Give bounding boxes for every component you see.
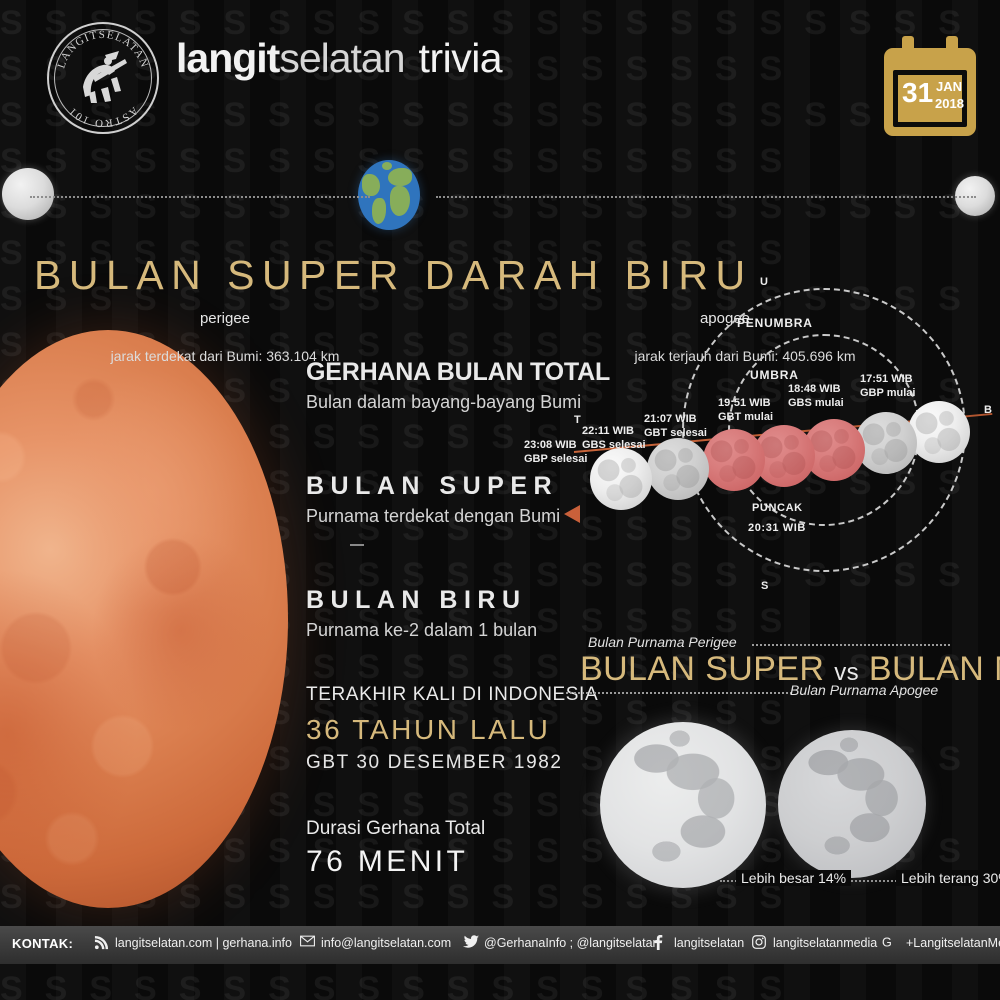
peak-label: PUNCAK (752, 502, 803, 514)
peak-time: 20:31 WIB (748, 522, 806, 534)
minimoon-maria (778, 730, 926, 878)
fact-heading-bulan-super: BULAN SUPER (306, 472, 558, 501)
super-moon-caption: Bulan Purnama Perigee (588, 634, 737, 650)
facebook-icon (653, 935, 668, 950)
eclipse-moon-1751 (908, 401, 970, 463)
eclipse-moon-2211 (647, 438, 709, 500)
duration-heading: Durasi Gerhana Total (306, 818, 485, 840)
moon-path-arrow-icon (564, 505, 580, 523)
eclipse-phase-label-2308: 23:08 WIB GBP selesai (524, 438, 587, 466)
eclipse-moon-2107 (703, 429, 765, 491)
super-vs-mini-section: Bulan Purnama Perigee BULAN SUPER vs BUL… (560, 630, 1000, 900)
contact-website-text: langitselatan.com | gerhana.info (115, 936, 292, 950)
orbit-dash-right (436, 196, 976, 198)
calendar-year: 2018 (935, 97, 964, 110)
compass-west-label: T (574, 414, 581, 426)
eclipse-moon-2308 (590, 448, 652, 510)
supermoon-disc (600, 722, 766, 888)
googleplus-icon: G (882, 935, 900, 950)
duration-value: 76 MENIT (306, 845, 468, 879)
svg-text:G: G (882, 936, 892, 950)
svg-text:ASTRO 101: ASTRO 101 (66, 104, 140, 129)
email-icon (300, 935, 315, 950)
title-bulan-super: BULAN SUPER (580, 650, 824, 688)
fact-sub-gerhana-bulan-total: Bulan dalam bayang-bayang Bumi (306, 392, 581, 413)
compass-north-label: U (760, 276, 768, 288)
eclipse-path-diagram: U S T B PENUMBRA UMBRA 17:51 WIB GBP mul… (560, 272, 1000, 612)
eclipse-phase-label-2211: 22:11 WIB GBS selesai (582, 424, 646, 452)
calendar-body: 31 JAN 2018 (884, 48, 976, 136)
contact-website[interactable]: langitselatan.com | gerhana.info (94, 935, 292, 950)
contact-googleplus-text: +LangitselatanMedia (906, 936, 1000, 950)
twitter-icon (463, 935, 478, 950)
perigee-label: perigee (120, 310, 330, 327)
calendar-inner-frame: 31 JAN 2018 (893, 70, 967, 127)
umbra-label: UMBRA (750, 368, 799, 382)
perigee-apogee-band: perigee jarak terdekat dari Bumi: 363.10… (0, 150, 1000, 242)
brand-langit: langit (176, 35, 279, 81)
mini-moon-caption: Bulan Purnama Apogee (790, 682, 938, 698)
eclipse-phase-label-1848: 18:48 WIB GBS mulai (788, 382, 844, 410)
calendar-date-screen: 31 JAN 2018 (898, 75, 962, 122)
phase-time-1751: 17:51 WIB (860, 373, 913, 385)
eclipse-phase-label-1951: 19:51 WIB GBT mulai (718, 396, 773, 424)
contact-facebook-text: langitselatan (674, 936, 744, 950)
phase-time-2107: 21:07 WIB (644, 413, 697, 425)
brand-wordmark: langitselatantrivia (176, 38, 502, 79)
phase-time-2308: 23:08 WIB (524, 439, 577, 451)
contact-instagram-text: langitselatanmedia (773, 936, 877, 950)
stat-size: Lebih besar 14% (736, 870, 851, 886)
brand-trivia: trivia (419, 35, 503, 81)
phase-event-2107: GBT selesai (644, 427, 707, 439)
phase-time-1951: 19:51 WIB (718, 397, 771, 409)
instagram-icon (752, 935, 767, 950)
last-time-date: GBT 30 DESEMBER 1982 (306, 752, 563, 774)
kontak-label: KONTAK: (12, 936, 73, 951)
contact-twitter[interactable]: @GerhanaInfo ; @langitselatan (463, 935, 659, 950)
fact-heading-bulan-biru: BULAN BIRU (306, 586, 527, 615)
supermoon-maria (600, 722, 766, 888)
phase-event-1951: GBT mulai (718, 411, 773, 423)
phase-event-2308: GBP selesai (524, 453, 587, 465)
header: LANGITSELATAN ASTRO 101 langit (0, 0, 1000, 150)
contact-email-text: info@langitselatan.com (321, 936, 451, 950)
orbit-dash-left (30, 196, 370, 198)
infographic-canvas: SSSSSSSSSSSSSSSSSSSSSSSSSSSSSSSSSSSSSSSS… (0, 0, 1000, 1000)
phase-time-2211: 22:11 WIB (582, 425, 634, 437)
phase-event-1848: GBS mulai (788, 397, 844, 409)
caption-dash-top (752, 644, 950, 646)
eclipse-phase-label-2107: 21:07 WIB GBT selesai (644, 412, 707, 440)
minimoon-disc (778, 730, 926, 878)
eclipse-phase-label-1751: 17:51 WIB GBP mulai (860, 372, 915, 400)
sagittarius-figure-icon (75, 51, 131, 105)
fact-sub-bulan-biru: Purnama ke-2 dalam 1 bulan (306, 620, 537, 641)
contact-email[interactable]: info@langitselatan.com (300, 935, 451, 950)
fact-sub-bulan-super: Purnama terdekat dengan Bumi (306, 506, 560, 527)
last-time-heading: TERAKHIR KALI DI INDONESIA (306, 684, 598, 706)
calendar-icon: 31 JAN 2018 (884, 36, 976, 136)
rss-icon (94, 935, 109, 950)
phase-time-1848: 18:48 WIB (788, 383, 841, 395)
phase-event-2211: GBS selesai (582, 439, 646, 451)
penumbra-label: PENUMBRA (737, 316, 813, 330)
caption-dash-bottom (566, 692, 792, 694)
contact-footer: KONTAK: langitselatan.com | gerhana.info… (0, 926, 1000, 964)
last-time-years: 36 TAHUN LALU (306, 714, 550, 746)
contact-facebook[interactable]: langitselatan (653, 935, 744, 950)
calendar-month: JAN (936, 80, 962, 94)
phase-event-1751: GBP mulai (860, 387, 915, 399)
contact-instagram[interactable]: langitselatanmedia (752, 935, 877, 950)
fact-divider (350, 544, 364, 546)
compass-south-label: S (761, 580, 769, 592)
langitselatan-logo: LANGITSELATAN ASTRO 101 (47, 22, 159, 134)
contact-googleplus[interactable]: G +LangitselatanMedia (882, 935, 1000, 950)
calendar-day: 31 (902, 79, 933, 107)
brand-selatan: selatan (279, 35, 404, 81)
stat-bright: Lebih terang 30% (896, 870, 1000, 886)
contact-twitter-text: @GerhanaInfo ; @langitselatan (484, 936, 659, 950)
